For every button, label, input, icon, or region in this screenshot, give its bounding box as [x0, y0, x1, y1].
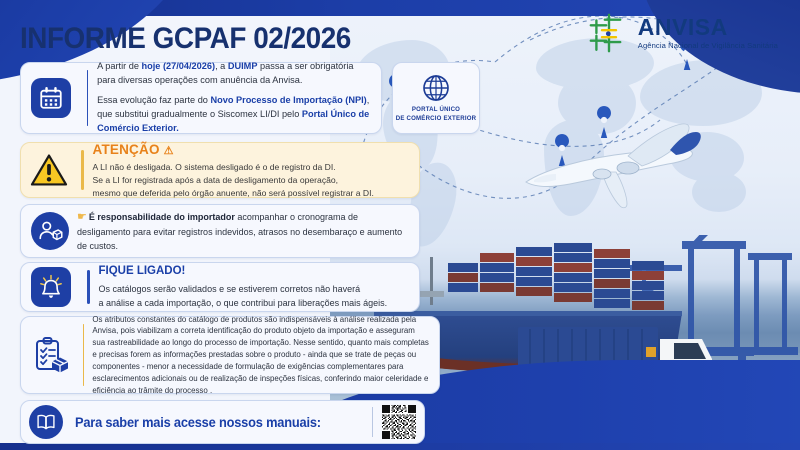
bell-icon-wrap [21, 267, 77, 307]
attention-heading: ATENÇÃO ⚠ [93, 140, 410, 160]
bell-icon [38, 274, 64, 300]
clipboard-package-icon [31, 335, 71, 375]
duimp-p2-a: Essa evolução faz parte do [97, 95, 210, 105]
clipboard-icon-wrap [29, 333, 73, 377]
card-importer-responsibility: ☛É responsabilidade do importador acompa… [20, 204, 420, 258]
warning-icon-wrap [27, 148, 71, 192]
duimp-term: DUIMP [228, 61, 258, 71]
card-responsibility-body: ☛É responsabilidade do importador acompa… [77, 203, 419, 260]
airplane-icon [510, 120, 720, 230]
card-divider-amber [81, 150, 84, 190]
page-title: INFORME GCPAF 02/2026 [20, 22, 351, 56]
open-book-icon [35, 411, 57, 433]
portal-badge-line2: DE COMÉRCIO EXTERIOR [396, 115, 477, 122]
card-divider [87, 70, 88, 126]
portal-badge-label: PORTAL ÚNICO DE COMÉRCIO EXTERIOR [396, 106, 477, 122]
anvisa-logo-subtitle: Agência Nacional de Vigilância Sanitária [638, 42, 778, 50]
duimp-p1-c: , a [215, 61, 228, 71]
user-package-icon [37, 218, 63, 244]
qr-code-icon[interactable] [382, 405, 416, 439]
infographic-page: INFORME GCPAF 02/2026 ANVISA Agência Nac… [0, 0, 800, 450]
duimp-date: hoje (27/04/2026) [142, 61, 216, 71]
card-attention-body: ATENÇÃO ⚠ A LI não é desligada. O sistem… [93, 134, 420, 206]
portal-unico-badge: PORTAL ÚNICO DE COMÉRCIO EXTERIOR [392, 62, 480, 134]
globe-icon [421, 73, 451, 103]
attention-heading-text: ATENÇÃO [93, 142, 160, 157]
attention-line-3: mesmo que deferida pelo órgão anuente, n… [93, 187, 410, 200]
npi-term: Novo Processo de Importação (NPI) [210, 95, 366, 105]
responsibility-bold-text: É responsabilidade do importador [89, 212, 235, 222]
user-package-icon-wrap [21, 212, 77, 250]
card-duimp-body: A partir de hoje (27/04/2026), a DUIMP p… [97, 54, 381, 142]
anvisa-cross-icon [588, 12, 630, 54]
bottom-blue-strip [0, 443, 800, 450]
anvisa-logo-name: ANVISA [638, 16, 778, 39]
warning-emoji-icon: ⚠ [164, 145, 174, 157]
attention-line-2: Se a LI for registrada após a data de de… [93, 174, 410, 187]
duimp-paragraph-1: A partir de hoje (27/04/2026), a DUIMP p… [97, 60, 371, 88]
card-fique-ligado: FIQUE LIGADO! Os catálogos serão validad… [20, 262, 420, 312]
qr-separator [372, 407, 374, 437]
card-catalog-attributes: Os atributos constantes do catálogo de p… [20, 316, 440, 394]
card-attention-warning: ATENÇÃO ⚠ A LI não é desligada. O sistem… [20, 142, 420, 198]
manuals-bar[interactable]: Para saber mais acesse nossos manuais: [20, 400, 425, 444]
anvisa-logo: ANVISA Agência Nacional de Vigilância Sa… [588, 12, 778, 54]
card-catalog-body: Os atributos constantes do catálogo de p… [92, 308, 439, 403]
calendar-icon-wrap [21, 78, 77, 118]
manuals-label: Para saber mais acesse nossos manuais: [75, 415, 348, 430]
attention-line-1: A LI não é desligada. O sistema desligad… [93, 161, 410, 174]
card-divider [87, 270, 90, 304]
book-icon-wrap [29, 405, 63, 439]
duimp-paragraph-2: Essa evolução faz parte do Novo Processo… [97, 94, 371, 136]
calendar-icon [38, 85, 64, 111]
fique-ligado-line-1: Os catálogos serão validados e se estive… [99, 283, 410, 297]
card-duimp-obligation: A partir de hoje (27/04/2026), a DUIMP p… [20, 62, 382, 134]
portal-badge-line1: PORTAL ÚNICO [412, 106, 460, 113]
duimp-p1-a: A partir de [97, 61, 141, 71]
warning-triangle-icon [30, 153, 68, 187]
fique-ligado-heading: FIQUE LIGADO! [99, 263, 410, 281]
pointing-hand-icon: ☛ [77, 211, 87, 223]
